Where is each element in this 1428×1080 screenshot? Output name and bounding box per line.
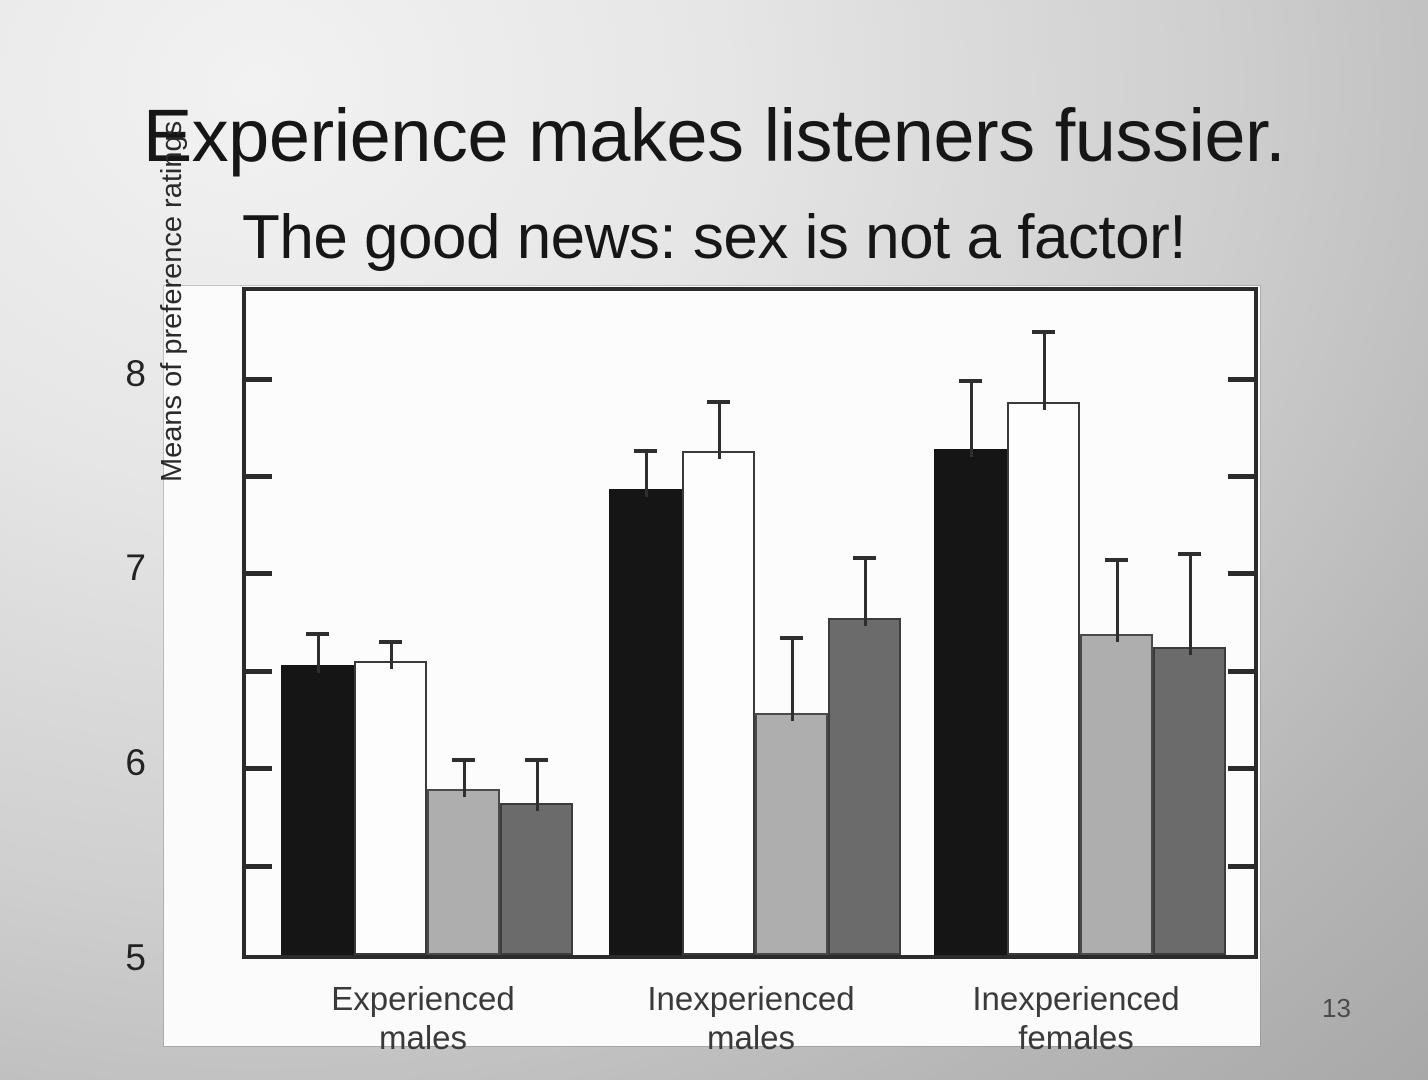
x-axis-group-label: Inexperiencedfemales xyxy=(926,979,1226,1057)
bar xyxy=(354,661,427,955)
error-bar-stem xyxy=(536,758,539,811)
bar xyxy=(281,665,354,955)
error-bar-cap xyxy=(707,400,730,404)
bar xyxy=(1007,402,1080,955)
error-bar-stem xyxy=(970,379,973,457)
error-bar-cap xyxy=(1105,558,1128,562)
error-bar-cap xyxy=(452,758,475,762)
chart-panel: Means of preference ratings 8765 Experie… xyxy=(164,286,1260,1046)
x-axis-group-label: Inexperiencedmales xyxy=(601,979,901,1057)
y-major-tick-right xyxy=(1228,766,1254,771)
error-bar-stem xyxy=(317,632,320,673)
y-major-tick xyxy=(246,571,272,576)
error-bar-cap xyxy=(379,640,402,644)
bar xyxy=(755,713,828,955)
bar xyxy=(934,449,1007,955)
x-axis-group-label-line1: Inexperienced xyxy=(926,979,1226,1018)
x-axis-group-label-line1: Experienced xyxy=(273,979,573,1018)
y-major-tick xyxy=(246,377,272,382)
page-title: Experience makes listeners fussier. xyxy=(0,96,1428,176)
x-axis-group-label-line1: Inexperienced xyxy=(601,979,901,1018)
y-minor-tick xyxy=(246,669,272,674)
error-bar-stem xyxy=(1189,552,1192,655)
y-tick-label: 5 xyxy=(86,937,146,979)
x-axis-group-label-line2: males xyxy=(601,1018,901,1057)
bar xyxy=(500,803,573,955)
y-major-tick-right xyxy=(1228,571,1254,576)
error-bar-stem xyxy=(645,449,648,498)
error-bar-cap xyxy=(853,556,876,560)
error-bar-cap xyxy=(306,632,329,636)
error-bar-cap xyxy=(634,449,657,453)
error-bar-cap xyxy=(1032,330,1055,334)
bar xyxy=(828,618,901,955)
x-axis-group-label: Experiencedmales xyxy=(273,979,573,1057)
y-major-tick xyxy=(246,766,272,771)
bar xyxy=(1080,634,1153,955)
y-minor-tick-right xyxy=(1228,669,1254,674)
y-tick-label: 7 xyxy=(86,547,146,589)
error-bar-cap xyxy=(1178,552,1201,556)
y-minor-tick xyxy=(246,474,272,479)
page-subtitle: The good news: sex is not a factor! xyxy=(0,203,1428,273)
y-minor-tick-right xyxy=(1228,864,1254,869)
error-bar-stem xyxy=(791,636,794,722)
error-bar-stem xyxy=(1043,330,1046,410)
error-bar-stem xyxy=(718,400,721,458)
y-minor-tick xyxy=(246,864,272,869)
y-axis-title: Means of preference ratings xyxy=(156,121,189,482)
slide: Experience makes listeners fussier. The … xyxy=(0,0,1428,1080)
error-bar-cap xyxy=(525,758,548,762)
x-axis-labels: ExperiencedmalesInexperiencedmalesInexpe… xyxy=(242,961,1258,1043)
error-bar-cap xyxy=(959,379,982,383)
y-tick-label: 6 xyxy=(86,742,146,784)
error-bar-cap xyxy=(780,636,803,640)
x-axis-group-label-line2: males xyxy=(273,1018,573,1057)
bar xyxy=(609,489,682,955)
plot-area: 8765 xyxy=(242,287,1258,959)
bar xyxy=(1153,647,1226,955)
error-bar-stem xyxy=(463,758,466,797)
bar xyxy=(682,451,755,955)
error-bar-stem xyxy=(864,556,867,626)
y-minor-tick-right xyxy=(1228,474,1254,479)
error-bar-stem xyxy=(1116,558,1119,642)
page-number: 13 xyxy=(1322,993,1351,1024)
y-major-tick-right xyxy=(1228,377,1254,382)
x-axis-group-label-line2: females xyxy=(926,1018,1226,1057)
y-tick-label: 8 xyxy=(86,353,146,395)
error-bar-stem xyxy=(390,640,393,669)
bar xyxy=(427,789,500,955)
